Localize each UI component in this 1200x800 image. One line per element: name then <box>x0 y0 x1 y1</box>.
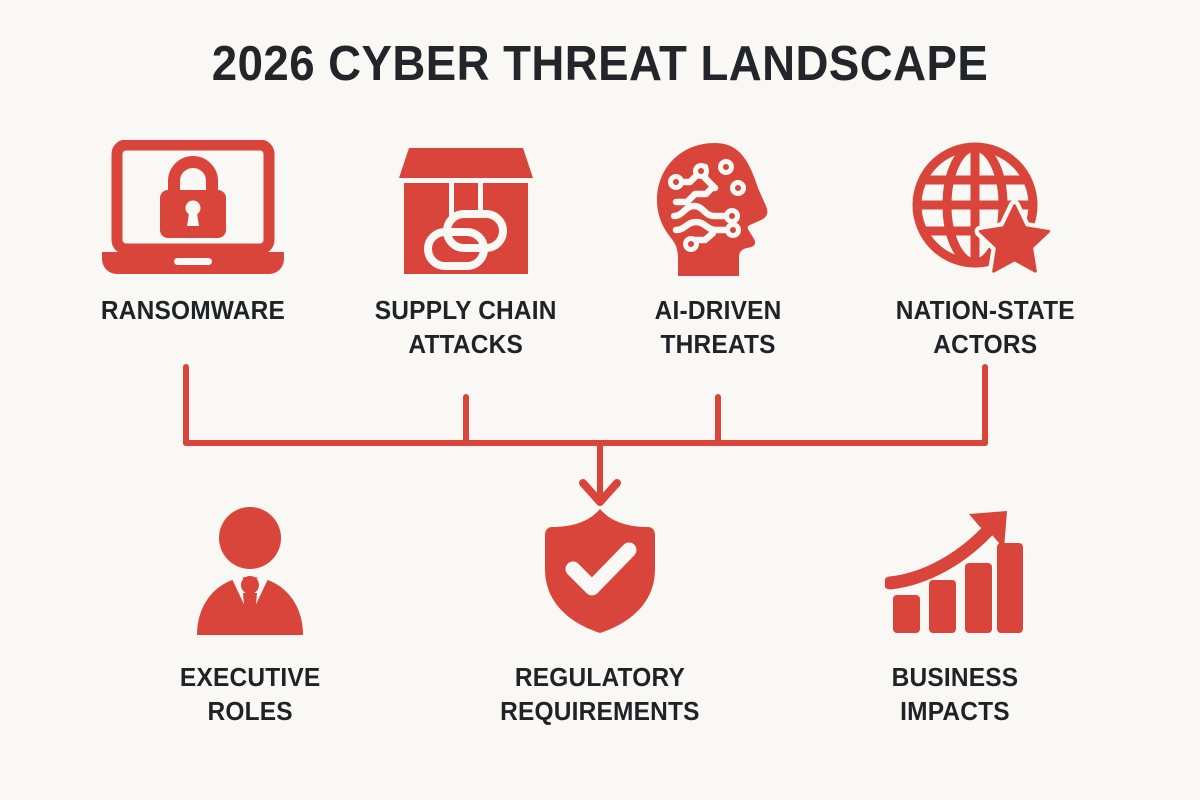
head-circuit-icon <box>643 140 793 285</box>
outcome-node-regulatory-requirements[interactable]: REGULATORY REQUIREMENTS <box>450 505 750 729</box>
flow-connector <box>0 355 1200 515</box>
page-title: 2026 CYBER THREAT LANDSCAPE <box>42 36 1158 92</box>
threat-label-nation-state: NATION-STATE ACTORS <box>895 295 1074 362</box>
package-chain-icon <box>391 140 541 285</box>
outcome-label-regulatory-requirements: REGULATORY REQUIREMENTS <box>500 662 700 729</box>
business-person-icon <box>185 505 315 640</box>
threat-node-ai-driven[interactable]: AI-DRIVEN THREATS <box>568 140 868 362</box>
outcome-label-business-impacts: BUSINESS IMPACTS <box>892 662 1019 729</box>
outcome-label-executive-roles: EXECUTIVE ROLES <box>180 662 320 729</box>
threat-node-ransomware[interactable]: RANSOMWARE <box>43 140 343 329</box>
bar-chart-growth-icon <box>885 505 1025 640</box>
laptop-lock-icon <box>98 140 288 285</box>
outcome-node-business-impacts[interactable]: BUSINESS IMPACTS <box>805 505 1105 729</box>
threat-label-ransomware: RANSOMWARE <box>101 295 285 329</box>
outcome-node-executive-roles[interactable]: EXECUTIVE ROLES <box>100 505 400 729</box>
threat-label-ai-driven: AI-DRIVEN THREATS <box>655 295 782 362</box>
threat-label-supply-chain: SUPPLY CHAIN ATTACKS <box>375 295 557 362</box>
infographic-canvas: 2026 CYBER THREAT LANDSCAPE RANSOMWARE <box>0 0 1200 800</box>
globe-star-icon <box>910 140 1060 285</box>
threat-node-nation-state[interactable]: NATION-STATE ACTORS <box>835 140 1135 362</box>
shield-check-icon <box>540 505 660 640</box>
